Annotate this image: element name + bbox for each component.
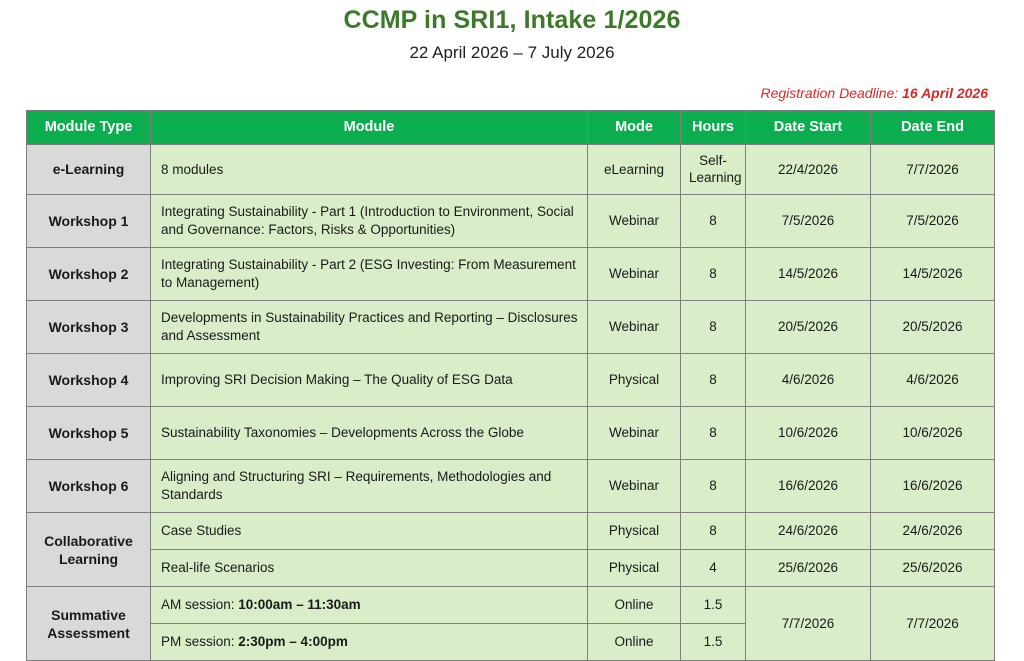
cell-date-start: 7/5/2026 bbox=[746, 195, 871, 248]
cell-module-type: Workshop 6 bbox=[27, 460, 151, 513]
cell-mode: Webinar bbox=[588, 195, 681, 248]
cell-mode: Webinar bbox=[588, 301, 681, 354]
cell-date-end: 10/6/2026 bbox=[871, 407, 995, 460]
cell-date-end: 14/5/2026 bbox=[871, 248, 995, 301]
cell-mode: Physical bbox=[588, 513, 681, 550]
cell-mode: Physical bbox=[588, 550, 681, 587]
cell-hours: 4 bbox=[681, 550, 746, 587]
cell-module: Case Studies bbox=[151, 513, 588, 550]
table-body: e-Learning 8 modules eLearning Self-Lear… bbox=[27, 144, 995, 661]
cell-mode: Webinar bbox=[588, 460, 681, 513]
cell-date-start: 10/6/2026 bbox=[746, 407, 871, 460]
cell-mode: eLearning bbox=[588, 144, 681, 195]
session-label: AM session: bbox=[161, 597, 238, 612]
cell-hours: Self-Learning bbox=[681, 144, 746, 195]
table-row: Workshop 6 Aligning and Structuring SRI … bbox=[27, 460, 995, 513]
cell-mode: Online bbox=[588, 624, 681, 661]
cell-module-type: e-Learning bbox=[27, 144, 151, 195]
cell-module: Developments in Sustainability Practices… bbox=[151, 301, 588, 354]
table-row: Collaborative Learning Case Studies Phys… bbox=[27, 513, 995, 550]
cell-module-type: Workshop 1 bbox=[27, 195, 151, 248]
deadline-date: 16 April 2026 bbox=[902, 85, 988, 101]
column-header-date-end: Date End bbox=[871, 111, 995, 145]
cell-hours: 8 bbox=[681, 460, 746, 513]
cell-module: Aligning and Structuring SRI – Requireme… bbox=[151, 460, 588, 513]
column-header-hours: Hours bbox=[681, 111, 746, 145]
cell-module: Integrating Sustainability - Part 2 (ESG… bbox=[151, 248, 588, 301]
cell-date-start: 7/7/2026 bbox=[746, 587, 871, 661]
cell-module-type: Workshop 2 bbox=[27, 248, 151, 301]
cell-module: Integrating Sustainability - Part 1 (Int… bbox=[151, 195, 588, 248]
cell-module-type: Summative Assessment bbox=[27, 587, 151, 661]
table-row: Workshop 4 Improving SRI Decision Making… bbox=[27, 354, 995, 407]
module-type-line-1: Summative bbox=[51, 607, 126, 623]
module-type-line-2: Assessment bbox=[47, 625, 130, 641]
cell-hours: 8 bbox=[681, 354, 746, 407]
cell-module: PM session: 2:30pm – 4:00pm bbox=[151, 624, 588, 661]
cell-hours: 1.5 bbox=[681, 624, 746, 661]
column-header-mode: Mode bbox=[588, 111, 681, 145]
cell-module: 8 modules bbox=[151, 144, 588, 195]
table-row: Workshop 1 Integrating Sustainability - … bbox=[27, 195, 995, 248]
schedule-page: CCMP in SRI1, Intake 1/2026 22 April 202… bbox=[0, 0, 1024, 550]
cell-mode: Physical bbox=[588, 354, 681, 407]
module-type-line-2: Learning bbox=[59, 551, 118, 567]
cell-date-start: 14/5/2026 bbox=[746, 248, 871, 301]
cell-date-end: 7/7/2026 bbox=[871, 144, 995, 195]
cell-date-start: 4/6/2026 bbox=[746, 354, 871, 407]
cell-hours: 8 bbox=[681, 407, 746, 460]
cell-hours: 1.5 bbox=[681, 587, 746, 624]
cell-date-end: 16/6/2026 bbox=[871, 460, 995, 513]
table-head: Module Type Module Mode Hours Date Start… bbox=[27, 111, 995, 145]
cell-date-end: 7/7/2026 bbox=[871, 587, 995, 661]
table-header-row: Module Type Module Mode Hours Date Start… bbox=[27, 111, 995, 145]
column-header-module: Module bbox=[151, 111, 588, 145]
module-type-line-1: Collaborative bbox=[44, 533, 133, 549]
table-row: Workshop 3 Developments in Sustainabilit… bbox=[27, 301, 995, 354]
cell-hours: 8 bbox=[681, 301, 746, 354]
table-row: Workshop 5 Sustainability Taxonomies – D… bbox=[27, 407, 995, 460]
cell-mode: Webinar bbox=[588, 248, 681, 301]
cell-module: AM session: 10:00am – 11:30am bbox=[151, 587, 588, 624]
session-time: 2:30pm – 4:00pm bbox=[238, 634, 348, 649]
cell-date-start: 16/6/2026 bbox=[746, 460, 871, 513]
cell-module: Improving SRI Decision Making – The Qual… bbox=[151, 354, 588, 407]
column-header-date-start: Date Start bbox=[746, 111, 871, 145]
cell-mode: Webinar bbox=[588, 407, 681, 460]
registration-deadline: Registration Deadline: 16 April 2026 bbox=[0, 63, 1024, 101]
cell-date-end: 4/6/2026 bbox=[871, 354, 995, 407]
cell-date-start: 24/6/2026 bbox=[746, 513, 871, 550]
cell-mode: Online bbox=[588, 587, 681, 624]
cell-hours: 8 bbox=[681, 195, 746, 248]
table-row: e-Learning 8 modules eLearning Self-Lear… bbox=[27, 144, 995, 195]
cell-module-type: Workshop 5 bbox=[27, 407, 151, 460]
cell-module: Real-life Scenarios bbox=[151, 550, 588, 587]
cell-date-end: 25/6/2026 bbox=[871, 550, 995, 587]
column-header-module-type: Module Type bbox=[27, 111, 151, 145]
page-date-range: 22 April 2026 – 7 July 2026 bbox=[0, 35, 1024, 63]
session-label: PM session: bbox=[161, 634, 238, 649]
table-row: Real-life Scenarios Physical 4 25/6/2026… bbox=[27, 550, 995, 587]
cell-module-type: Workshop 4 bbox=[27, 354, 151, 407]
table-row: Workshop 2 Integrating Sustainability - … bbox=[27, 248, 995, 301]
schedule-table-wrapper: Module Type Module Mode Hours Date Start… bbox=[0, 101, 1024, 661]
cell-date-end: 20/5/2026 bbox=[871, 301, 995, 354]
cell-date-start: 20/5/2026 bbox=[746, 301, 871, 354]
cell-module: Sustainability Taxonomies – Developments… bbox=[151, 407, 588, 460]
cell-date-end: 24/6/2026 bbox=[871, 513, 995, 550]
schedule-table: Module Type Module Mode Hours Date Start… bbox=[26, 110, 995, 661]
cell-date-start: 25/6/2026 bbox=[746, 550, 871, 587]
page-title: CCMP in SRI1, Intake 1/2026 bbox=[0, 0, 1024, 35]
table-row: Summative Assessment AM session: 10:00am… bbox=[27, 587, 995, 624]
cell-date-start: 22/4/2026 bbox=[746, 144, 871, 195]
cell-hours: 8 bbox=[681, 513, 746, 550]
cell-date-end: 7/5/2026 bbox=[871, 195, 995, 248]
session-time: 10:00am – 11:30am bbox=[238, 597, 360, 612]
cell-module-type: Workshop 3 bbox=[27, 301, 151, 354]
cell-hours: 8 bbox=[681, 248, 746, 301]
deadline-label: Registration Deadline: bbox=[760, 85, 898, 101]
